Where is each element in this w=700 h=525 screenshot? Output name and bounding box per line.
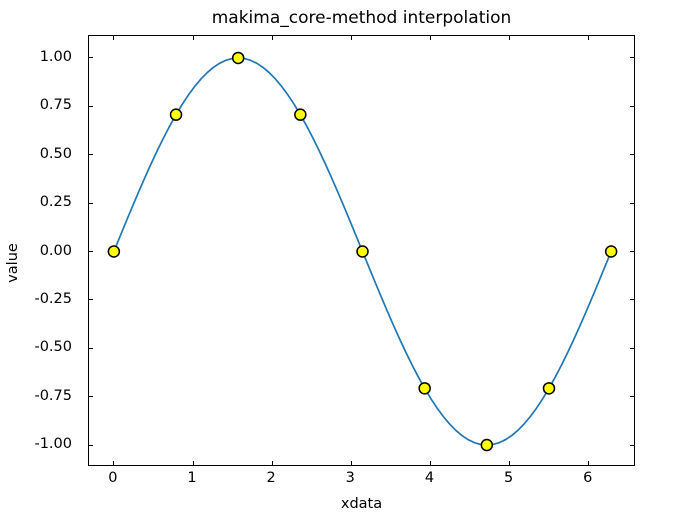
x-tick-mark-top xyxy=(430,36,431,40)
x-tick-mark-top xyxy=(351,36,352,40)
page-title: makima_core-method interpolation xyxy=(88,8,635,28)
data-point-marker xyxy=(606,246,617,257)
data-point-marker xyxy=(543,383,554,394)
y-tick-label: 0.50 xyxy=(40,146,72,162)
x-tick-mark xyxy=(509,461,510,465)
y-tick-label: -0.25 xyxy=(34,291,72,307)
y-tick-mark xyxy=(89,299,93,300)
x-tick-mark-top xyxy=(509,36,510,40)
y-tick-mark xyxy=(89,396,93,397)
y-tick-label: -0.75 xyxy=(34,388,72,404)
x-axis-label: xdata xyxy=(88,496,635,512)
y-tick-mark-right xyxy=(630,445,634,446)
data-point-marker xyxy=(357,246,368,257)
y-tick-label: 0.00 xyxy=(40,243,72,259)
y-tick-mark-right xyxy=(630,203,634,204)
y-tick-mark xyxy=(89,203,93,204)
sample-point-markers-group xyxy=(108,52,616,450)
y-tick-label: 0.75 xyxy=(40,97,72,113)
data-point-marker xyxy=(295,109,306,120)
x-tick-label: 1 xyxy=(187,470,196,486)
x-tick-label: 3 xyxy=(346,470,355,486)
x-tick-mark xyxy=(113,461,114,465)
data-point-marker xyxy=(171,109,182,120)
y-tick-mark-right xyxy=(630,396,634,397)
x-tick-mark xyxy=(430,461,431,465)
y-tick-mark xyxy=(89,445,93,446)
plot-area xyxy=(88,35,635,466)
y-axis-tick-labels: -1.00-0.75-0.50-0.250.000.250.500.751.00 xyxy=(18,35,80,466)
y-tick-label: 0.25 xyxy=(40,194,72,210)
y-tick-mark-right xyxy=(630,57,634,58)
x-tick-mark-top xyxy=(272,36,273,40)
data-point-marker xyxy=(233,52,244,63)
x-tick-mark xyxy=(351,461,352,465)
x-tick-mark xyxy=(272,461,273,465)
y-tick-label: -1.00 xyxy=(34,436,72,452)
y-tick-mark-right xyxy=(630,154,634,155)
y-tick-mark-right xyxy=(630,299,634,300)
y-tick-mark xyxy=(89,106,93,107)
figure-canvas: makima_core-method interpolation value -… xyxy=(0,0,700,525)
data-point-marker xyxy=(108,246,119,257)
y-tick-mark-right xyxy=(630,348,634,349)
x-tick-label: 0 xyxy=(108,470,117,486)
x-tick-mark xyxy=(193,461,194,465)
x-tick-mark-top xyxy=(588,36,589,40)
x-tick-label: 4 xyxy=(425,470,434,486)
y-tick-mark xyxy=(89,57,93,58)
x-tick-mark-top xyxy=(113,36,114,40)
x-tick-label: 2 xyxy=(267,470,276,486)
data-point-marker xyxy=(481,440,492,451)
x-tick-label: 6 xyxy=(583,470,592,486)
y-tick-mark xyxy=(89,348,93,349)
y-tick-mark xyxy=(89,251,93,252)
x-tick-mark-top xyxy=(193,36,194,40)
y-tick-label: -0.50 xyxy=(34,339,72,355)
y-tick-mark xyxy=(89,154,93,155)
data-point-marker xyxy=(419,383,430,394)
x-tick-mark xyxy=(588,461,589,465)
x-axis-tick-labels: 0123456 xyxy=(88,470,635,494)
y-tick-label: 1.00 xyxy=(40,49,72,65)
plot-svg xyxy=(89,36,636,467)
y-tick-mark-right xyxy=(630,251,634,252)
x-tick-label: 5 xyxy=(504,470,513,486)
y-tick-mark-right xyxy=(630,106,634,107)
